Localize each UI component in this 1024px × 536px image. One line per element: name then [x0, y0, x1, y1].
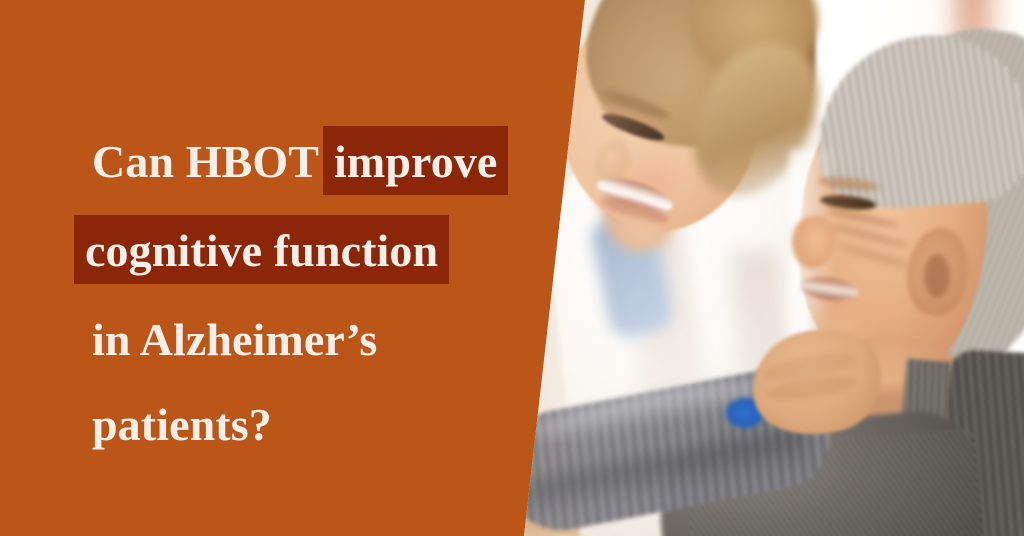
- headline-line-4: patients?: [92, 393, 544, 468]
- hbot-alzheimers-banner: Can HBOT improve cognitive function in A…: [0, 0, 1024, 536]
- headline-line-2: cognitive function: [74, 219, 544, 294]
- patient-ear-inner: [924, 254, 950, 298]
- headline-line-1: Can HBOT improve: [92, 130, 544, 205]
- headline-line-3: in Alzheimer’s: [92, 308, 544, 383]
- headline-plain-text: patients?: [92, 399, 272, 450]
- headline-highlight-cognitive-function: cognitive function: [74, 215, 449, 284]
- headline-plain-text: in Alzheimer’s: [92, 314, 377, 365]
- headline-highlight-improve: improve: [323, 126, 508, 195]
- headline-plain-text: Can HBOT: [92, 136, 319, 187]
- headline-block: Can HBOT improve cognitive function in A…: [74, 130, 544, 468]
